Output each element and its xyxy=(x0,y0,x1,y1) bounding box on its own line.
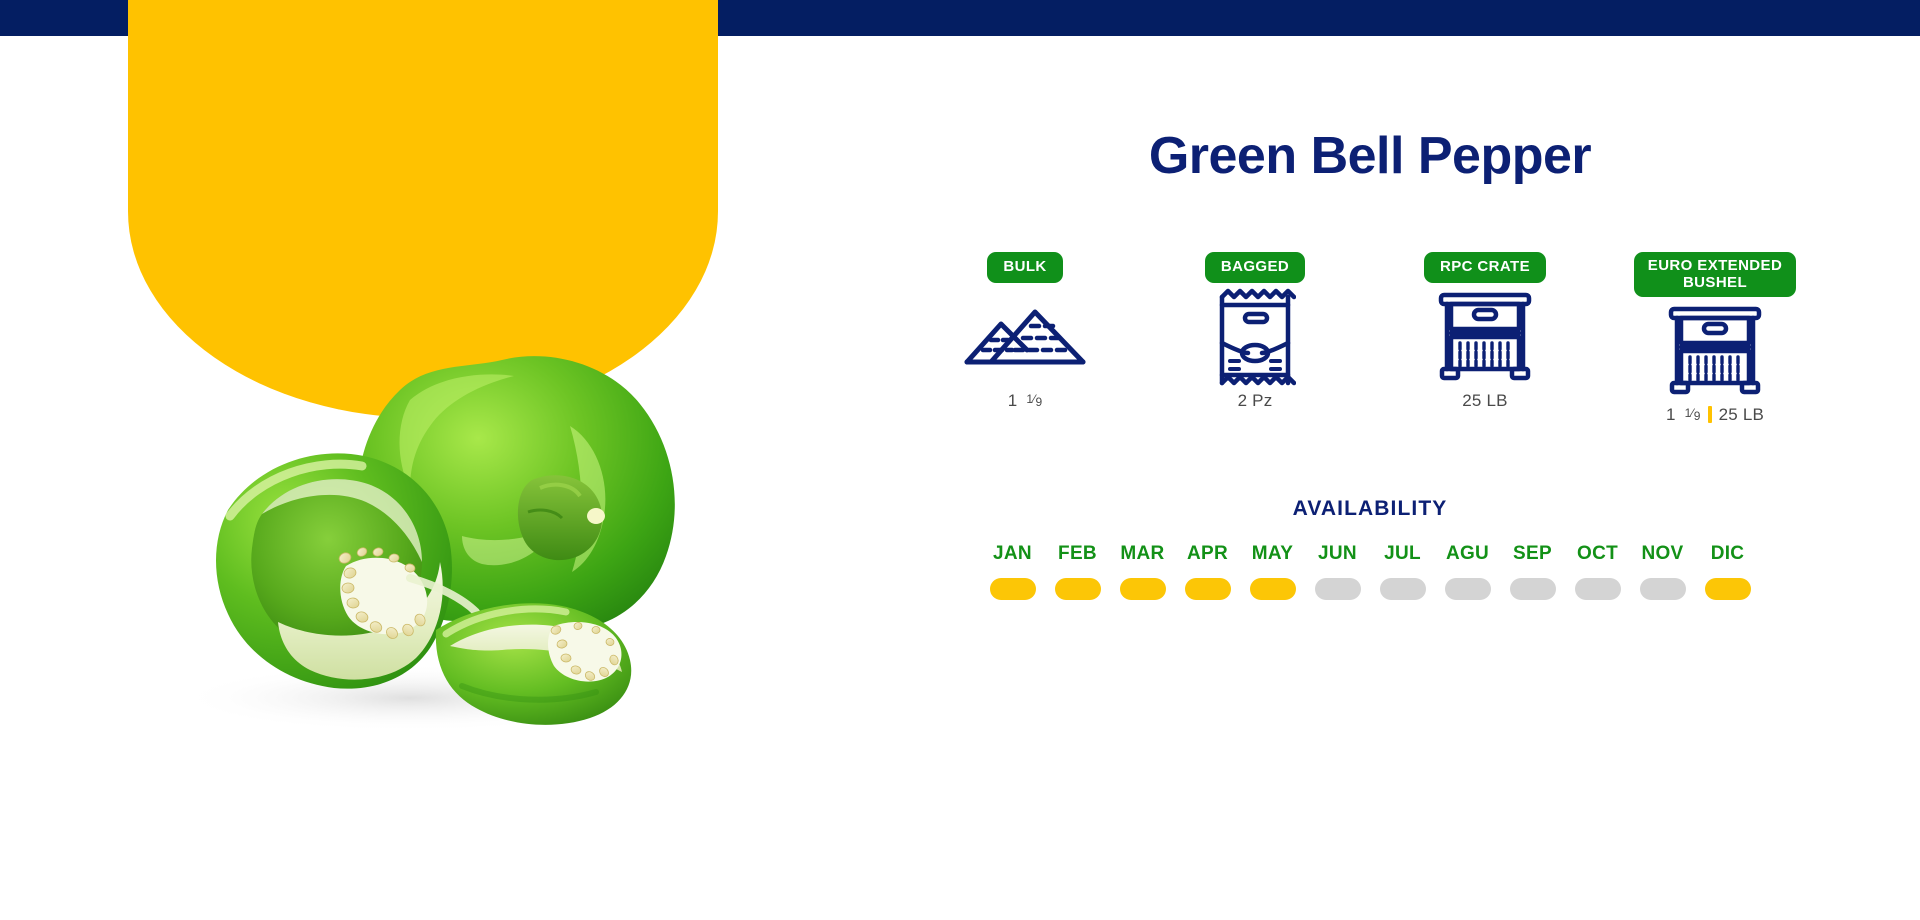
availability-months: JAN FEB MAR APR MAY JUN JUL AGU xyxy=(840,543,1900,600)
month-jun[interactable]: JUN xyxy=(1305,543,1370,600)
month-label: FEB xyxy=(1058,543,1097,565)
pack-option-rpc-crate[interactable]: RPC CRATE xyxy=(1395,252,1575,411)
month-sep[interactable]: SEP xyxy=(1500,543,1565,600)
month-label: NOV xyxy=(1641,543,1683,565)
pack-badge-bagged: BAGGED xyxy=(1205,252,1305,283)
pack-caption-bulk-value: 1 xyxy=(1008,391,1018,411)
pack-caption-rpc-crate: 25 LB xyxy=(1462,391,1507,411)
month-label: JUL xyxy=(1384,543,1421,565)
pack-caption-bagged: 2 Pz xyxy=(1238,391,1273,411)
month-label: JUN xyxy=(1318,543,1357,565)
pack-option-bagged[interactable]: BAGGED xyxy=(1165,252,1345,411)
month-apr[interactable]: APR xyxy=(1175,543,1240,600)
month-pill[interactable] xyxy=(1445,578,1491,600)
month-pill[interactable] xyxy=(1640,578,1686,600)
pack-option-euro-extended-bushel[interactable]: EURO EXTENDED BUSHEL xyxy=(1625,252,1805,425)
fraction-numerator: 1 xyxy=(1685,407,1692,419)
pack-caption-bulk-fraction: 1⁄9 xyxy=(1026,393,1042,405)
product-info-panel: Green Bell Pepper BULK xyxy=(840,0,1900,920)
fraction-denominator: 9 xyxy=(1694,410,1701,422)
month-pill[interactable] xyxy=(1510,578,1556,600)
month-pill[interactable] xyxy=(1575,578,1621,600)
pack-caption-euro-extended-bushel: 11⁄9 25 LB xyxy=(1666,405,1764,425)
pack-caption-euro-secondary: 25 LB xyxy=(1719,405,1764,425)
month-pill[interactable] xyxy=(1380,578,1426,600)
pack-badge-euro-extended-bushel: EURO EXTENDED BUSHEL xyxy=(1634,252,1796,297)
pack-types-row: BULK 11⁄9 xyxy=(840,252,1900,425)
pepper-illustration xyxy=(110,330,730,750)
month-label: MAR xyxy=(1120,543,1164,565)
pack-badge-rpc-crate: RPC CRATE xyxy=(1424,252,1546,283)
pack-caption-euro-value: 1 xyxy=(1666,405,1676,425)
fraction-denominator: 9 xyxy=(1035,396,1042,408)
month-label: JAN xyxy=(993,543,1032,565)
pack-caption-euro-fraction: 1⁄9 xyxy=(1685,407,1701,419)
page-title: Green Bell Pepper xyxy=(840,130,1900,182)
crate-icon xyxy=(1437,297,1533,377)
month-may[interactable]: MAY xyxy=(1240,543,1305,600)
month-pill[interactable] xyxy=(1250,578,1296,600)
month-oct[interactable]: OCT xyxy=(1565,543,1630,600)
availability-heading: AVAILABILITY xyxy=(840,497,1900,521)
month-label: MAY xyxy=(1252,543,1293,565)
month-pill[interactable] xyxy=(1185,578,1231,600)
month-pill[interactable] xyxy=(990,578,1036,600)
month-label: SEP xyxy=(1513,543,1552,565)
month-label: DIC xyxy=(1711,543,1745,565)
month-mar[interactable]: MAR xyxy=(1110,543,1175,600)
month-label: AGU xyxy=(1446,543,1489,565)
month-agu[interactable]: AGU xyxy=(1435,543,1500,600)
bag-icon xyxy=(1214,297,1296,377)
pack-caption-bagged-value: 2 Pz xyxy=(1238,391,1273,411)
month-jul[interactable]: JUL xyxy=(1370,543,1435,600)
pack-badge-bulk: BULK xyxy=(987,252,1062,283)
month-feb[interactable]: FEB xyxy=(1045,543,1110,600)
caption-separator xyxy=(1708,406,1712,423)
pack-option-bulk[interactable]: BULK 11⁄9 xyxy=(935,252,1115,411)
month-dic[interactable]: DIC xyxy=(1695,543,1760,600)
month-pill[interactable] xyxy=(1705,578,1751,600)
bulk-pile-icon xyxy=(961,297,1089,377)
month-pill[interactable] xyxy=(1120,578,1166,600)
month-pill[interactable] xyxy=(1055,578,1101,600)
pack-caption-rpc-crate-value: 25 LB xyxy=(1462,391,1507,411)
pack-caption-bulk: 11⁄9 xyxy=(1008,391,1043,411)
month-nov[interactable]: NOV xyxy=(1630,543,1695,600)
crate-icon xyxy=(1667,311,1763,391)
month-label: OCT xyxy=(1577,543,1618,565)
month-label: APR xyxy=(1187,543,1228,565)
month-jan[interactable]: JAN xyxy=(980,543,1045,600)
month-pill[interactable] xyxy=(1315,578,1361,600)
green-bell-pepper-image xyxy=(110,330,730,750)
